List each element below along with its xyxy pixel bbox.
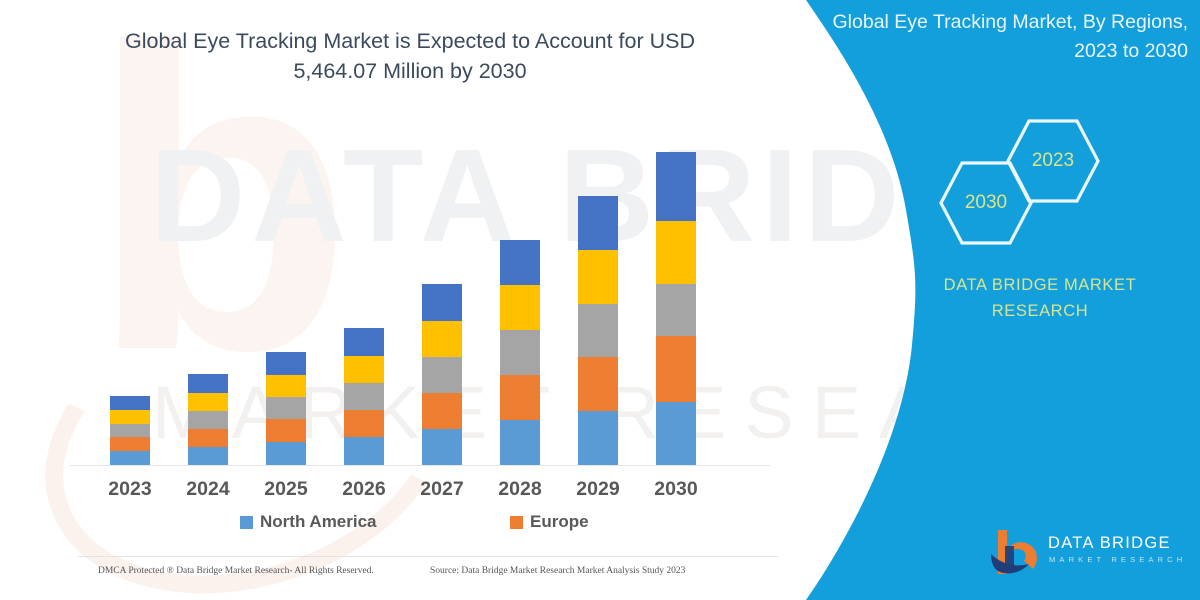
bar-segment [110,410,150,424]
bar-segment [500,420,540,465]
bar-segment [110,424,150,437]
brand-line-1: DATA BRIDGE MARKET [900,272,1180,298]
bar-segment [266,375,306,397]
footer-source-text: Source: Data Bridge Market Research Mark… [430,566,685,576]
bar-segment [578,250,618,304]
bar-column-2027 [422,284,462,465]
x-axis-label-2030: 2030 [636,478,716,501]
stacked-bar-chart: 20232024202520262027202820292030 North A… [0,0,800,600]
chart-baseline [70,465,770,466]
logo-wordmark: DATA BRIDGE [1048,534,1171,553]
footer-dmca-text: DMCA Protected ® Data Bridge Market Rese… [98,566,374,576]
x-axis-labels: 20232024202520262027202820292030 [0,478,790,502]
legend-item-north-america[interactable]: North America [240,512,377,532]
logo-mark-icon [988,528,1044,580]
bar-segment [500,285,540,330]
bar-segment [188,411,228,429]
bar-segment [656,152,696,221]
bar-segment [422,284,462,321]
bar-column-2025 [266,352,306,465]
bar-segment [266,352,306,375]
bar-segment [578,357,618,411]
bar-column-2024 [188,374,228,465]
hexagon-badge-2023: 2023 [1005,118,1101,204]
bar-segment [110,451,150,465]
bar-segment [578,304,618,357]
bar-segment [500,375,540,420]
panel-title: Global Eye Tracking Market, By Regions, … [830,8,1188,66]
bar-segment [500,330,540,375]
bar-segment [344,383,384,410]
footer-divider [78,556,778,557]
bar-column-2030 [656,152,696,465]
x-axis-label-2026: 2026 [324,478,404,501]
bar-segment [188,429,228,447]
bar-segment [344,328,384,356]
x-axis-label-2024: 2024 [168,478,248,501]
hexagon-label-2023: 2023 [1005,118,1101,204]
legend-label: North America [260,512,377,532]
chart-legend: North AmericaEurope [0,512,790,538]
legend-label: Europe [530,512,589,532]
bar-segment [344,437,384,465]
panel-brand-text: DATA BRIDGE MARKET RESEARCH [900,272,1180,324]
bar-segment [656,402,696,465]
bar-segment [266,419,306,442]
bar-segment [656,284,696,336]
bar-segment [188,374,228,393]
bar-segment [266,442,306,465]
legend-item-europe[interactable]: Europe [510,512,589,532]
brand-line-2: RESEARCH [900,298,1180,324]
bar-segment [578,196,618,250]
x-axis-label-2025: 2025 [246,478,326,501]
x-axis-label-2023: 2023 [90,478,170,501]
bar-segment [188,447,228,465]
bar-segment [110,437,150,451]
bar-segment [656,221,696,284]
bar-segment [188,393,228,411]
legend-swatch [240,516,253,529]
x-axis-label-2027: 2027 [402,478,482,501]
bar-segment [110,396,150,410]
x-axis-label-2028: 2028 [480,478,560,501]
legend-swatch [510,516,523,529]
bar-segment [266,397,306,419]
bar-segment [422,429,462,465]
x-axis-label-2029: 2029 [558,478,638,501]
bar-segment [422,357,462,393]
bar-segment [422,321,462,357]
infographic-canvas: b DATA BRIDGE MARKET RESEARCH Global Eye… [0,0,1200,600]
bar-column-2026 [344,328,384,465]
bar-segment [656,336,696,402]
bar-segment [500,240,540,285]
bar-segment [578,411,618,465]
logo-tagline: MARKET RESEARCH [1049,555,1186,564]
bar-column-2028 [500,240,540,465]
bar-segment [344,356,384,383]
bar-segment [344,410,384,437]
bar-segment [422,393,462,429]
bar-column-2023 [110,396,150,465]
bar-column-2029 [578,196,618,465]
data-bridge-logo: DATA BRIDGE MARKET RESEARCH [988,528,1193,586]
